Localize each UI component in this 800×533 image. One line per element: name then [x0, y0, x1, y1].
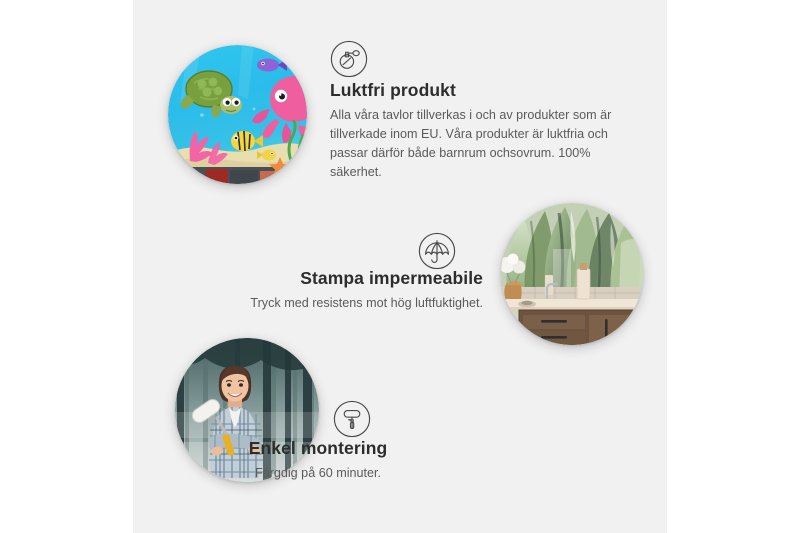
no-odor-spray-bottle-icon	[330, 40, 368, 78]
feature-title: Enkel montering	[153, 438, 483, 459]
umbrella-icon	[418, 232, 456, 270]
underwater-cartoon-scene-photo	[168, 45, 307, 184]
feature-description: Alla våra tavlor tillverkas i och av pro…	[330, 106, 630, 183]
feature-description: Tryck med resistens mot hög luftfuktighe…	[153, 294, 483, 313]
feature-description: Färgdig på 60 minuter.	[153, 464, 483, 483]
feature-text-easy-mounting: Enkel montering Färgdig på 60 minuter.	[153, 438, 483, 483]
feature-text-waterproof-print: Stampa impermeabile Tryck med resistens …	[153, 268, 483, 313]
feature-text-odor-free: Luktfri produkt Alla våra tavlor tillver…	[330, 80, 630, 183]
feature-title: Luktfri produkt	[330, 80, 630, 101]
product-feature-infographic: Luktfri produkt Alla våra tavlor tillver…	[0, 0, 800, 533]
bathroom-botanical-wallpaper-photo	[501, 203, 643, 345]
paint-roller-icon	[333, 400, 371, 438]
content-panel: Luktfri produkt Alla våra tavlor tillver…	[133, 0, 667, 533]
feature-title: Stampa impermeabile	[153, 268, 483, 289]
